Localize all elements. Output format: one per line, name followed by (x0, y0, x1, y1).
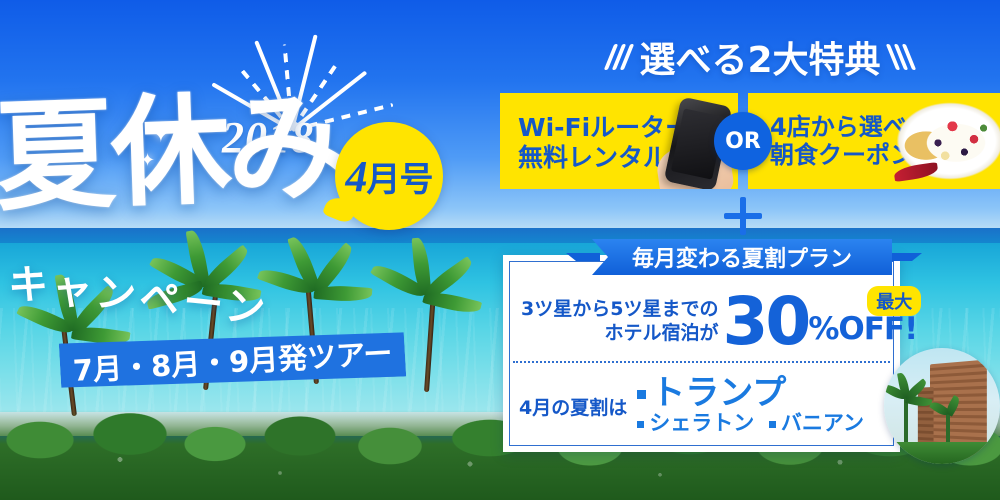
summer-discount-panel: 3ツ星から5ツ星までの ホテル宿泊が 30 %OFF! 最大 4月の夏割は トラ… (503, 255, 900, 452)
slash-decoration-icon (891, 44, 911, 70)
plan-ribbon-label: 毎月変わる夏割プラン (632, 241, 852, 273)
hotel-list: トランプ シェラトン バニアン (637, 376, 864, 437)
month-suffix: 月号 (367, 160, 433, 200)
monthly-hotels-row: 4月の夏割は トランプ シェラトン バニアン (503, 367, 900, 445)
month-number: 4 (346, 152, 367, 201)
hotel-photo (884, 348, 1000, 464)
max-badge: 最大 (867, 286, 921, 316)
benefits-heading: 選べる2大特典 (560, 30, 960, 84)
monthly-hotels-label: 4月の夏割は (519, 393, 627, 420)
discount-suffix: %OFF! (808, 311, 917, 352)
bullet-square-icon (637, 390, 646, 399)
discount-value: 30 %OFF! 最大 (722, 292, 917, 353)
hotel-item-secondary[interactable]: シェラトン バニアン (637, 411, 864, 436)
slash-decoration-icon (609, 44, 629, 70)
month-issue-badge[interactable]: 4月号 (335, 122, 443, 230)
campaign-banner: 2018 夏休み キャンペーン ✦ ✦ ✦ 4月号 7月・8月・9月発ツアー 選… (0, 0, 1000, 500)
offer-breakfast-card[interactable]: 4店から選べる 朝食クーポン (748, 93, 1000, 189)
sparkle-icon: ✦ (172, 140, 184, 157)
or-badge: OR (714, 112, 772, 170)
panel-divider (513, 361, 890, 363)
sparkle-icon: ✦ (140, 150, 155, 171)
or-label: OR (725, 129, 761, 154)
discount-description: 3ツ星から5ツ星までの ホテル宿泊が (521, 298, 718, 346)
benefits-heading-label: 選べる2大特典 (639, 31, 880, 83)
hotel-item-primary[interactable]: トランプ (637, 376, 864, 412)
sparkle-icon: ✦ (150, 118, 172, 149)
discount-number: 30 (722, 292, 808, 353)
hotel-photo-ground (884, 442, 1000, 464)
plus-icon (724, 197, 762, 235)
bullet-square-icon (769, 421, 776, 428)
offer-wifi-card[interactable]: Wi-Fiルーター 無料レンタル (500, 93, 738, 189)
plan-ribbon: 毎月変わる夏割プラン (592, 239, 892, 275)
bullet-square-icon (637, 421, 644, 428)
breakfast-dessert-photo (890, 95, 1000, 187)
discount-row: 3ツ星から5ツ星までの ホテル宿泊が 30 %OFF! 最大 (503, 289, 900, 355)
